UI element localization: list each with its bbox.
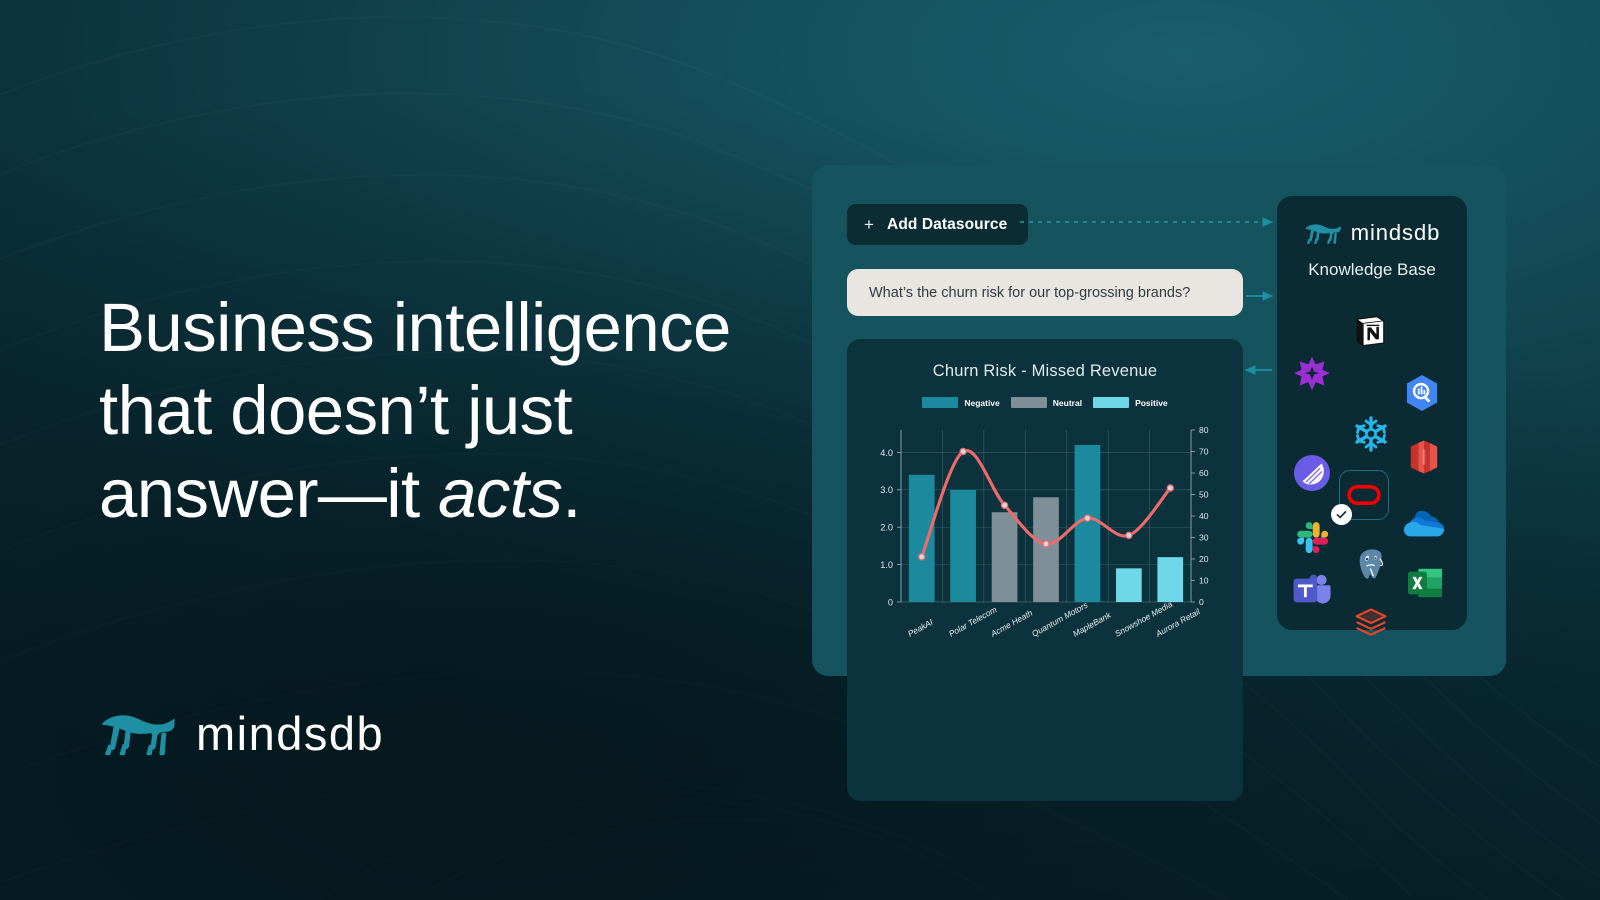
headline-line-2: that doesn’t just	[99, 372, 572, 449]
knowledge-base-panel: mindsdb Knowledge Base	[1277, 196, 1467, 630]
oracle-glyph	[1347, 485, 1381, 505]
svg-text:50: 50	[1199, 490, 1209, 500]
legend-swatch-neutral	[1011, 397, 1047, 408]
svg-text:40: 40	[1199, 511, 1209, 521]
svg-text:0: 0	[1199, 597, 1204, 607]
mindsdb-bear-icon	[99, 711, 177, 757]
legend-item-negative: Negative	[922, 397, 999, 408]
oracle-icon[interactable]	[1339, 470, 1389, 520]
chart-title: Churn Risk - Missed Revenue	[847, 362, 1243, 381]
headline-line-3-suffix: .	[562, 455, 581, 532]
notion-icon[interactable]	[1353, 314, 1387, 353]
chart-x-axis-labels: PeakAIPolar TelecomAcme HeathQuantum Mot…	[847, 630, 1243, 688]
svg-text:1.0: 1.0	[880, 560, 893, 570]
legend-label-neutral: Neutral	[1053, 398, 1082, 408]
add-datasource-label: Add Datasource	[887, 216, 1007, 234]
check-badge-icon	[1331, 504, 1352, 525]
excel-icon[interactable]	[1407, 566, 1443, 605]
svg-text:70: 70	[1199, 447, 1209, 457]
svg-text:30: 30	[1199, 533, 1209, 543]
snowflake-icon[interactable]	[1351, 414, 1391, 459]
chart-svg: 01.02.03.04.0 01020304050607080	[847, 418, 1243, 628]
teams-icon[interactable]	[1293, 572, 1331, 613]
add-datasource-button[interactable]: + Add Datasource	[847, 204, 1028, 245]
chart-card: Churn Risk - Missed Revenue Negative Neu…	[847, 339, 1243, 801]
mindsdb-bear-icon	[1304, 222, 1342, 245]
legend-swatch-negative	[922, 397, 958, 408]
knowledge-base-brand: mindsdb	[1277, 220, 1467, 246]
page-title: Business intelligence that doesn’t just …	[99, 286, 789, 535]
headline-emphasis: acts	[438, 455, 562, 532]
legend-item-positive: Positive	[1093, 397, 1168, 408]
legend-swatch-positive	[1093, 397, 1129, 408]
brand-wordmark: mindsdb	[196, 710, 384, 757]
prompt-text: What’s the churn risk for our top-grossi…	[869, 285, 1190, 301]
integration-icon-grid	[1277, 296, 1467, 636]
prompt-input[interactable]: What’s the churn risk for our top-grossi…	[847, 269, 1243, 316]
headline-line-3-prefix: answer—it	[99, 455, 438, 532]
legend-item-neutral: Neutral	[1011, 397, 1082, 408]
svg-text:60: 60	[1199, 468, 1209, 478]
svg-text:4.0: 4.0	[880, 448, 893, 458]
legend-label-negative: Negative	[964, 398, 999, 408]
slack-icon[interactable]	[1293, 518, 1331, 561]
bigquery-icon[interactable]	[1405, 374, 1439, 417]
knowledge-base-title: Knowledge Base	[1277, 260, 1467, 280]
onedrive-icon[interactable]	[1403, 508, 1445, 543]
legend-label-positive: Positive	[1135, 398, 1168, 408]
chart-plot-area: 01.02.03.04.0 01020304050607080 PeakAIPo…	[847, 418, 1243, 628]
chart-left-axis: 01.02.03.04.0	[880, 430, 901, 607]
databricks-icon[interactable]	[1353, 606, 1389, 645]
redshift-icon[interactable]	[1407, 438, 1441, 481]
svg-text:10: 10	[1199, 576, 1209, 586]
plus-icon: +	[864, 215, 874, 235]
svg-text:3.0: 3.0	[880, 485, 893, 495]
svg-text:80: 80	[1199, 425, 1209, 435]
svg-text:0: 0	[888, 597, 893, 607]
brand-logo: mindsdb	[99, 710, 384, 757]
postgresql-icon[interactable]	[1353, 546, 1389, 587]
chart-right-axis: 01020304050607080	[1191, 425, 1209, 607]
clickhouse-moon-icon[interactable]	[1293, 454, 1331, 497]
gamma-star-icon[interactable]	[1293, 356, 1331, 399]
headline-line-1: Business intelligence	[99, 289, 731, 366]
chart-legend: Negative Neutral Positive	[847, 397, 1243, 408]
svg-text:20: 20	[1199, 554, 1209, 564]
svg-text:2.0: 2.0	[880, 523, 893, 533]
knowledge-base-wordmark: mindsdb	[1351, 220, 1440, 246]
